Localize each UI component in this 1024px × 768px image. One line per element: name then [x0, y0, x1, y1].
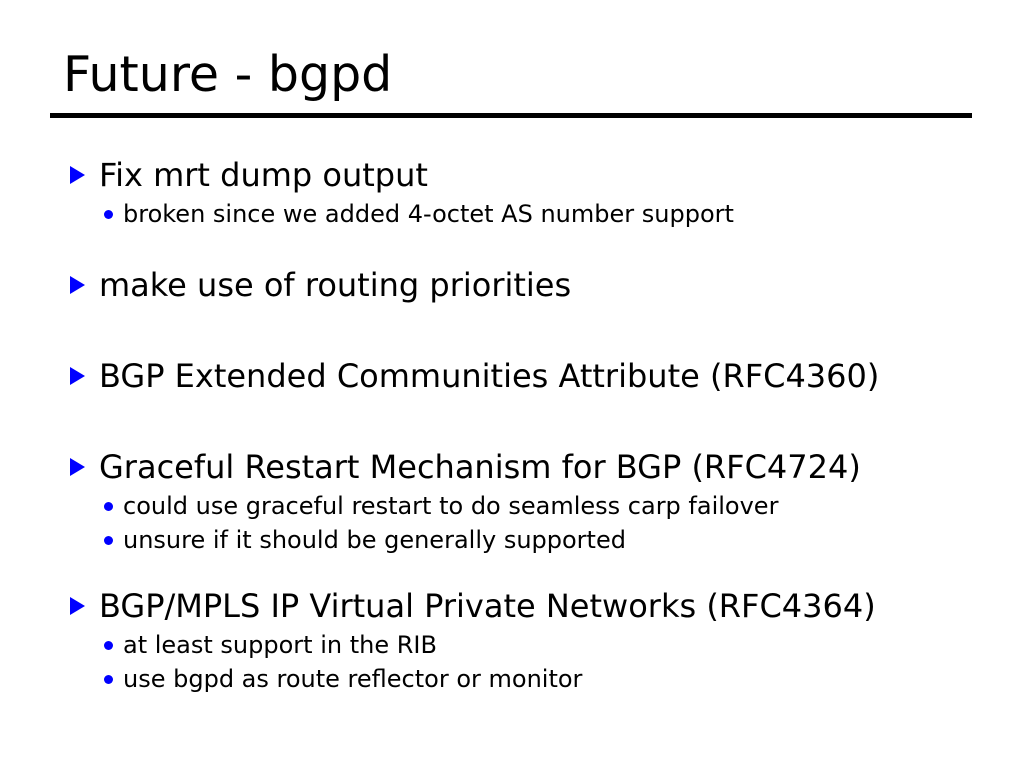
bullet-level1-label: Graceful Restart Mechanism for BGP (RFC4… — [99, 445, 1010, 489]
disc-icon — [104, 628, 123, 650]
bullet-level2-label: at least support in the RIB — [123, 628, 1010, 662]
spacer — [70, 398, 1010, 445]
list-item: make use of routing priorities — [70, 263, 1010, 307]
bullet-level2-label: broken since we added 4-octet AS number … — [123, 197, 1010, 231]
bullet-level2-label: use bgpd as route reflector or monitor — [123, 662, 1010, 696]
spacer — [70, 557, 1010, 584]
bullet-list: Fix mrt dump output broken since we adde… — [70, 153, 1010, 696]
bullet-level1-label: Fix mrt dump output — [99, 153, 1010, 197]
slide-canvas: Future - bgpd Fix mrt dump output broken… — [0, 0, 1024, 768]
slide-header: Future - bgpd — [50, 46, 972, 118]
disc-icon — [104, 523, 123, 545]
bullet-level2-row: unsure if it should be generally support… — [70, 523, 1010, 557]
bullet-level2-row: at least support in the RIB — [70, 628, 1010, 662]
bullet-level1-row: Graceful Restart Mechanism for BGP (RFC4… — [70, 445, 1010, 489]
bullet-level2-row: could use graceful restart to do seamles… — [70, 489, 1010, 523]
disc-icon — [104, 662, 123, 684]
list-item: BGP Extended Communities Attribute (RFC4… — [70, 354, 1010, 398]
triangle-right-icon — [70, 445, 99, 476]
triangle-right-icon — [70, 584, 99, 615]
bullet-level2-row: use bgpd as route reflector or monitor — [70, 662, 1010, 696]
bullet-level2-label: could use graceful restart to do seamles… — [123, 489, 1010, 523]
list-item: Graceful Restart Mechanism for BGP (RFC4… — [70, 445, 1010, 557]
bullet-level1-row: BGP/MPLS IP Virtual Private Networks (RF… — [70, 584, 1010, 628]
bullet-level1-label: BGP/MPLS IP Virtual Private Networks (RF… — [99, 584, 1010, 628]
bullet-level1-label: make use of routing priorities — [99, 263, 1010, 307]
page-title: Future - bgpd — [63, 46, 972, 104]
bullet-level1-row: make use of routing priorities — [70, 263, 1010, 307]
disc-icon — [104, 489, 123, 511]
bullet-level2-label: unsure if it should be generally support… — [123, 523, 1010, 557]
bullet-level1-label: BGP Extended Communities Attribute (RFC4… — [99, 354, 1010, 398]
triangle-right-icon — [70, 153, 99, 184]
bullet-level1-row: BGP Extended Communities Attribute (RFC4… — [70, 354, 1010, 398]
triangle-right-icon — [70, 354, 99, 385]
list-item: Fix mrt dump output broken since we adde… — [70, 153, 1010, 231]
triangle-right-icon — [70, 263, 99, 294]
spacer — [70, 307, 1010, 354]
list-item: BGP/MPLS IP Virtual Private Networks (RF… — [70, 584, 1010, 696]
spacer — [70, 231, 1010, 263]
disc-icon — [104, 197, 123, 219]
bullet-level1-row: Fix mrt dump output — [70, 153, 1010, 197]
title-underline-rule — [50, 113, 972, 118]
bullet-level2-row: broken since we added 4-octet AS number … — [70, 197, 1010, 231]
